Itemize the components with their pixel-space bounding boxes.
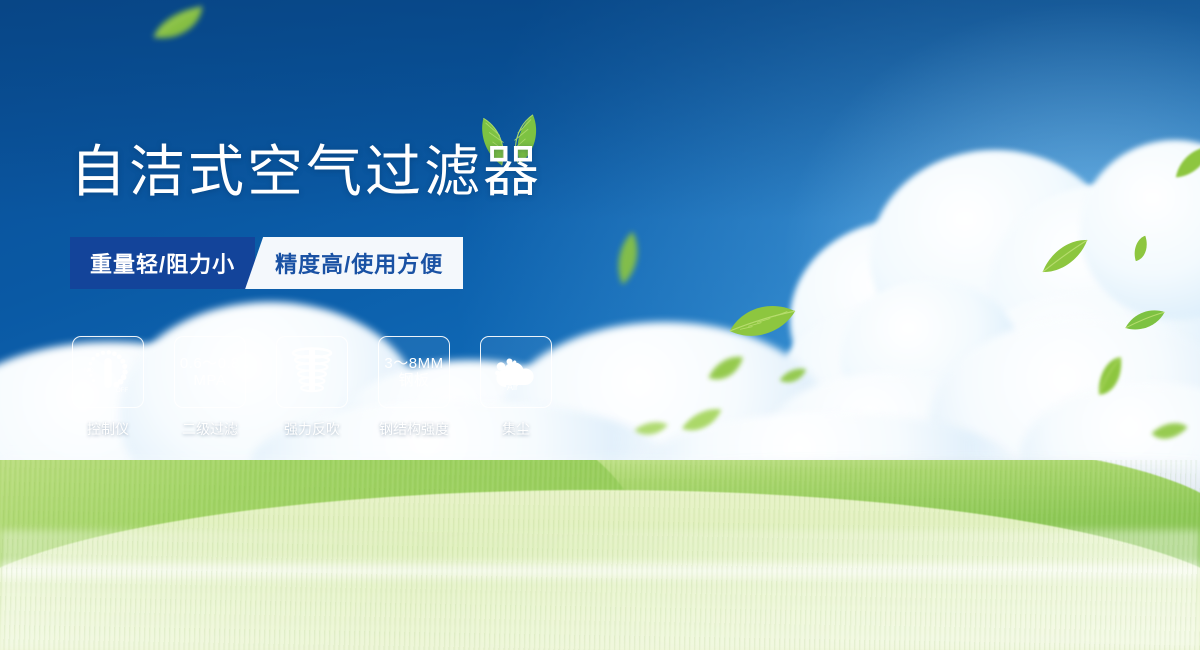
subtitle-right-text: 精度高/使用方便	[275, 247, 443, 279]
subtitle-left-text: 重量轻/阻力小	[90, 247, 235, 279]
air-label: Air	[507, 382, 518, 391]
feature-icon-box: 0.6～0.8 MPA	[174, 336, 246, 408]
feature-icon-box: NO OFF	[72, 336, 144, 408]
feature-item-blowback[interactable]: 强力反吹	[276, 336, 348, 439]
feature-item-control[interactable]: NO OFF 控制仪	[72, 336, 144, 439]
steel-plate-text: 钢板	[398, 372, 429, 389]
feature-icon-box	[276, 336, 348, 408]
feature-label: 二级过滤	[182, 419, 238, 439]
dial-no-label: NO	[84, 367, 94, 374]
subtitle-bar: 重量轻/阻力小 精度高/使用方便	[70, 237, 463, 289]
steel-thickness-text: 3～8MM	[384, 355, 443, 372]
feature-label: 强力反吹	[284, 419, 340, 439]
feature-icon-box: Air	[480, 336, 552, 408]
page-title: 自洁式空气过滤器	[70, 144, 542, 200]
feature-item-pressure[interactable]: 0.6～0.8 MPA 二级过滤	[174, 336, 246, 439]
control-dial-icon: NO OFF	[78, 344, 138, 400]
feature-label: 钢结构强度	[379, 419, 449, 439]
feature-list: NO OFF 控制仪 0.6～0.8 MPA 二级过滤	[72, 336, 552, 439]
filter-stack-icon	[286, 345, 338, 399]
subtitle-right-segment: 精度高/使用方便	[245, 237, 463, 289]
dial-off-label: OFF	[116, 388, 128, 394]
banner-content: 自洁式空气过滤器 重量轻/阻力小 精度高/使用方便	[0, 0, 1200, 650]
feature-label: 集尘	[502, 419, 530, 439]
feature-icon-box: 3～8MM 钢板	[378, 336, 450, 408]
feature-label: 控制仪	[87, 419, 129, 439]
pressure-value-text: 0.6～0.8	[180, 355, 240, 372]
dust-cloud-icon: Air	[488, 353, 544, 391]
pressure-unit-text: MPA	[194, 372, 227, 389]
feature-item-dust[interactable]: Air 集尘	[480, 336, 552, 439]
subtitle-left-segment: 重量轻/阻力小	[70, 237, 255, 289]
banner-root: 自洁式空气过滤器 重量轻/阻力小 精度高/使用方便	[0, 0, 1200, 650]
feature-item-steel[interactable]: 3～8MM 钢板 钢结构强度	[378, 336, 450, 439]
